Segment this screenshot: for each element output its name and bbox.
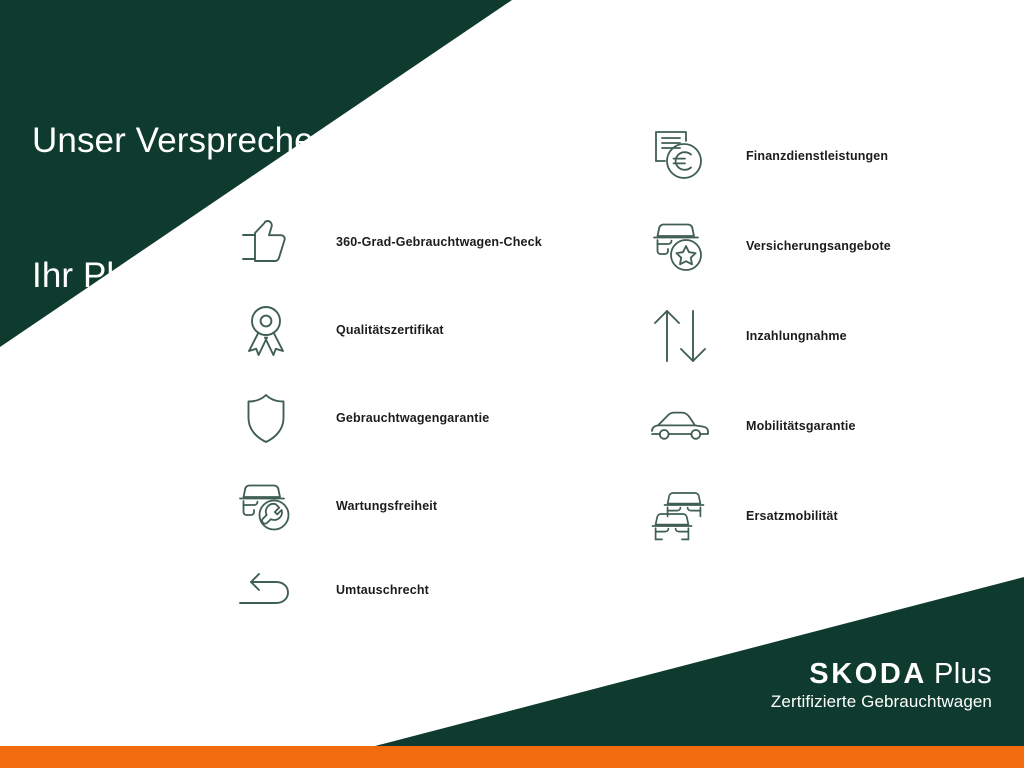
feature-label: Gebrauchtwagengarantie	[336, 411, 489, 425]
feature-item: Qualitätszertifikat	[232, 294, 592, 366]
headline-line-1: Unser Versprechen.	[32, 118, 343, 163]
up-down-arrows-icon	[646, 302, 714, 370]
two-cars-icon	[646, 482, 714, 550]
feature-item: Gebrauchtwagengarantie	[232, 382, 592, 454]
feature-item: Inzahlungnahme	[646, 300, 1006, 372]
shield-icon	[232, 384, 300, 452]
feature-label: Ersatzmobilität	[746, 509, 838, 523]
return-arrow-icon	[232, 556, 300, 624]
feature-item: 360-Grad-Gebrauchtwagen-Check	[232, 206, 592, 278]
orange-footer-bar	[0, 746, 1024, 768]
feature-item: Finanzdienstleistungen	[646, 120, 1006, 192]
logo-wordmark-row: SKODAPlus	[771, 658, 992, 690]
feature-item: Mobilitätsgarantie	[646, 390, 1006, 462]
car-side-icon	[646, 392, 714, 460]
feature-label: Wartungsfreiheit	[336, 499, 437, 513]
feature-label: 360-Grad-Gebrauchtwagen-Check	[336, 235, 542, 249]
logo-tagline: Zertifizierte Gebrauchtwagen	[771, 691, 992, 713]
logo-plus-word: Plus	[934, 658, 992, 690]
thumbs-up-icon	[232, 208, 300, 276]
feature-label: Mobilitätsgarantie	[746, 419, 856, 433]
feature-item: Wartungsfreiheit	[232, 470, 592, 542]
document-euro-icon	[646, 122, 714, 190]
car-star-icon	[646, 212, 714, 280]
feature-label: Umtauschrecht	[336, 583, 429, 597]
promo-slide: Unser Versprechen. Ihr Plus. 360-Grad-Ge…	[0, 0, 1024, 768]
feature-item: Ersatzmobilität	[646, 480, 1006, 552]
feature-item: Versicherungsangebote	[646, 210, 1006, 282]
feature-label: Inzahlungnahme	[746, 329, 847, 343]
feature-list-left: 360-Grad-Gebrauchtwagen-Check Qualitätsz…	[232, 206, 592, 642]
logo-wordmark: SKODA	[809, 658, 927, 690]
feature-item: Umtauschrecht	[232, 554, 592, 626]
feature-label: Versicherungsangebote	[746, 239, 891, 253]
feature-label: Finanzdienstleistungen	[746, 149, 888, 163]
brand-logo: SKODAPlus Zertifizierte Gebrauchtwagen	[771, 658, 992, 713]
feature-label: Qualitätszertifikat	[336, 323, 444, 337]
feature-list-right: Finanzdienstleistungen Versicherungsange…	[646, 120, 1006, 570]
car-wrench-icon	[232, 472, 300, 540]
award-rosette-icon	[232, 296, 300, 364]
